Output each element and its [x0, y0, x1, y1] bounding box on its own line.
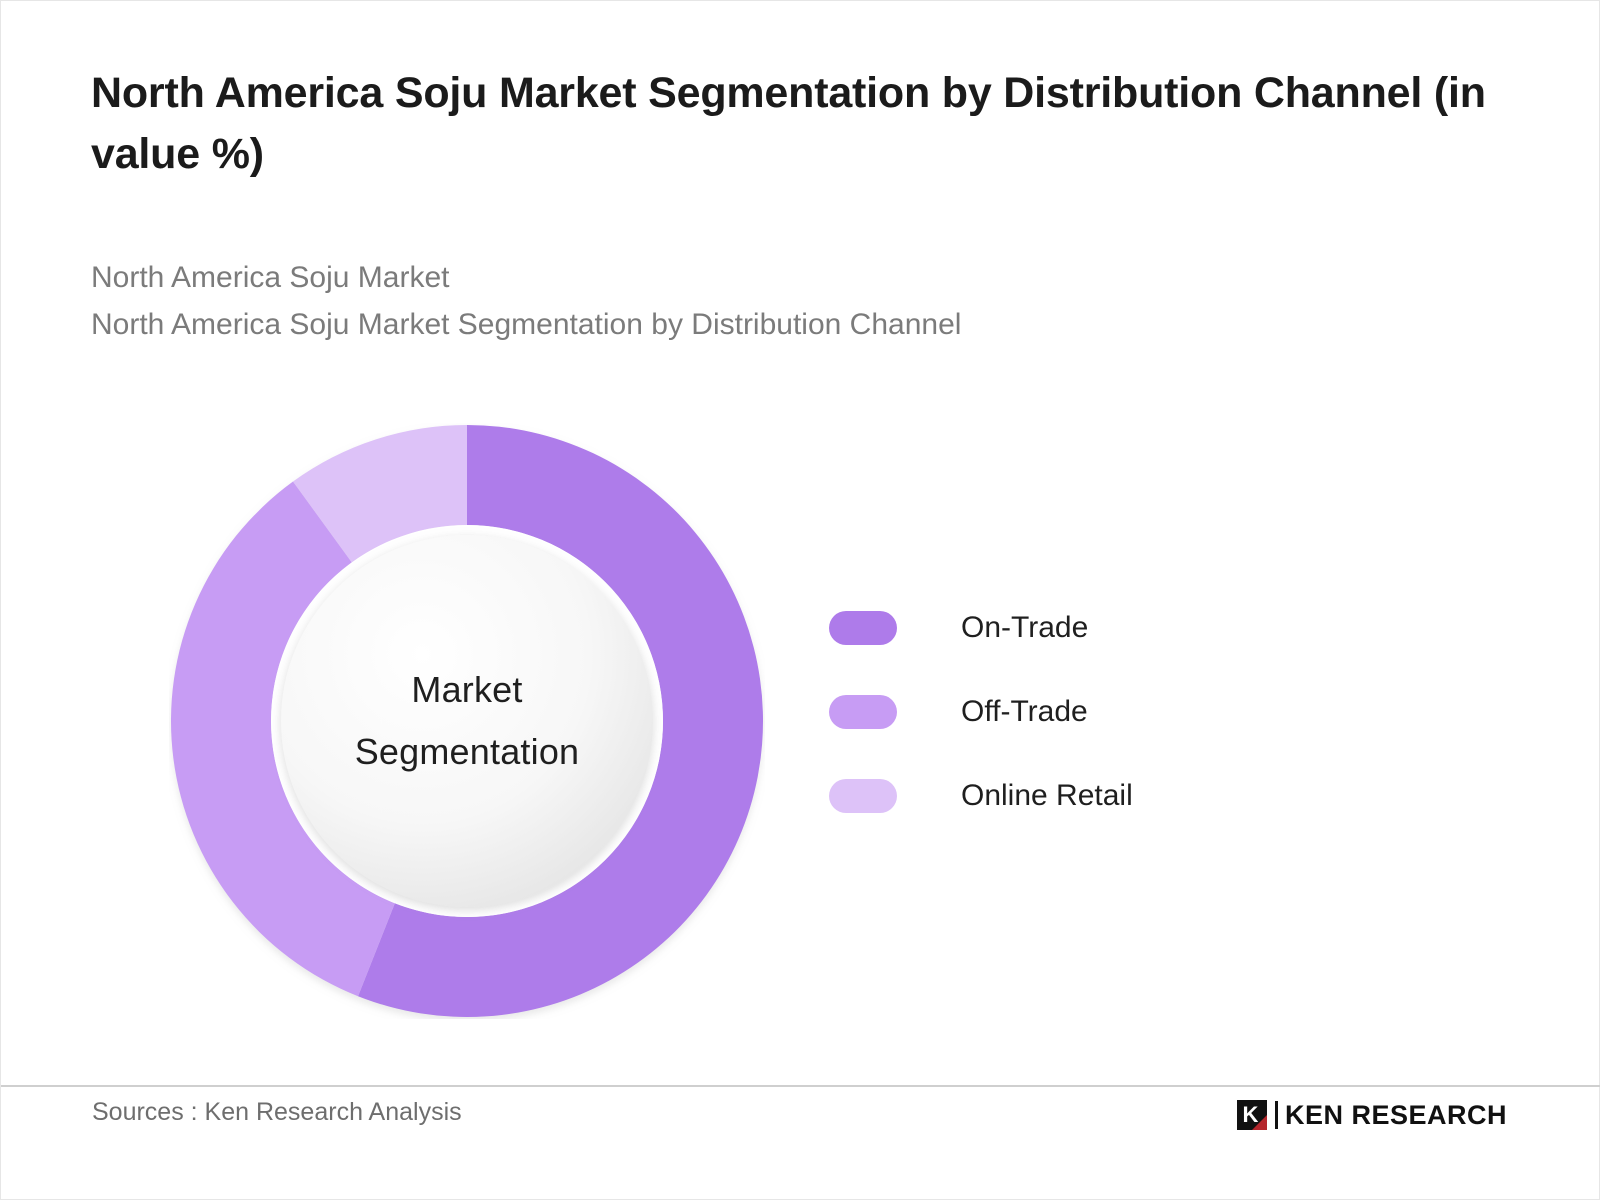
footer-sources: Sources : Ken Research Analysis	[92, 1098, 462, 1127]
donut-svg	[169, 423, 765, 1019]
donut-inner-circle	[281, 535, 653, 907]
header: North America Soju Market Segmentation b…	[91, 63, 1511, 185]
legend-swatch-icon-online-retail	[829, 779, 897, 813]
slide-canvas: North America Soju Market Segmentation b…	[0, 0, 1600, 1200]
legend-swatch-icon-off-trade	[829, 695, 897, 729]
subtitle-block: North America Soju Market North America …	[91, 254, 1491, 349]
donut-chart: Market Segmentation	[169, 423, 765, 1019]
footer-divider	[1, 1085, 1600, 1087]
legend-label-online-retail: Online Retail	[961, 779, 1133, 813]
legend-item-online-retail[interactable]: Online Retail	[829, 754, 1349, 838]
legend-label-off-trade: Off-Trade	[961, 695, 1088, 729]
subtitle-line-1: North America Soju Market	[91, 254, 1491, 301]
legend-item-off-trade[interactable]: Off-Trade	[829, 670, 1349, 754]
legend-item-on-trade[interactable]: On-Trade	[829, 586, 1349, 670]
ken-logo-wordmark: KEN RESEARCH	[1285, 1100, 1507, 1131]
subtitle-line-2: North America Soju Market Segmentation b…	[91, 301, 1491, 348]
legend-swatch-icon-on-trade	[829, 611, 897, 645]
ken-logo-k-glyph: K	[1243, 1104, 1259, 1126]
page-title: North America Soju Market Segmentation b…	[91, 63, 1491, 185]
chart-legend: On-Trade Off-Trade Online Retail	[829, 586, 1349, 838]
logo-divider	[1275, 1101, 1278, 1129]
ken-logo-mark-icon: K	[1237, 1100, 1267, 1130]
legend-label-on-trade: On-Trade	[961, 611, 1088, 645]
ken-research-logo: K KEN RESEARCH	[1237, 1097, 1507, 1133]
chart-area: Market Segmentation On-Trade Off-Trade O…	[1, 381, 1600, 1061]
